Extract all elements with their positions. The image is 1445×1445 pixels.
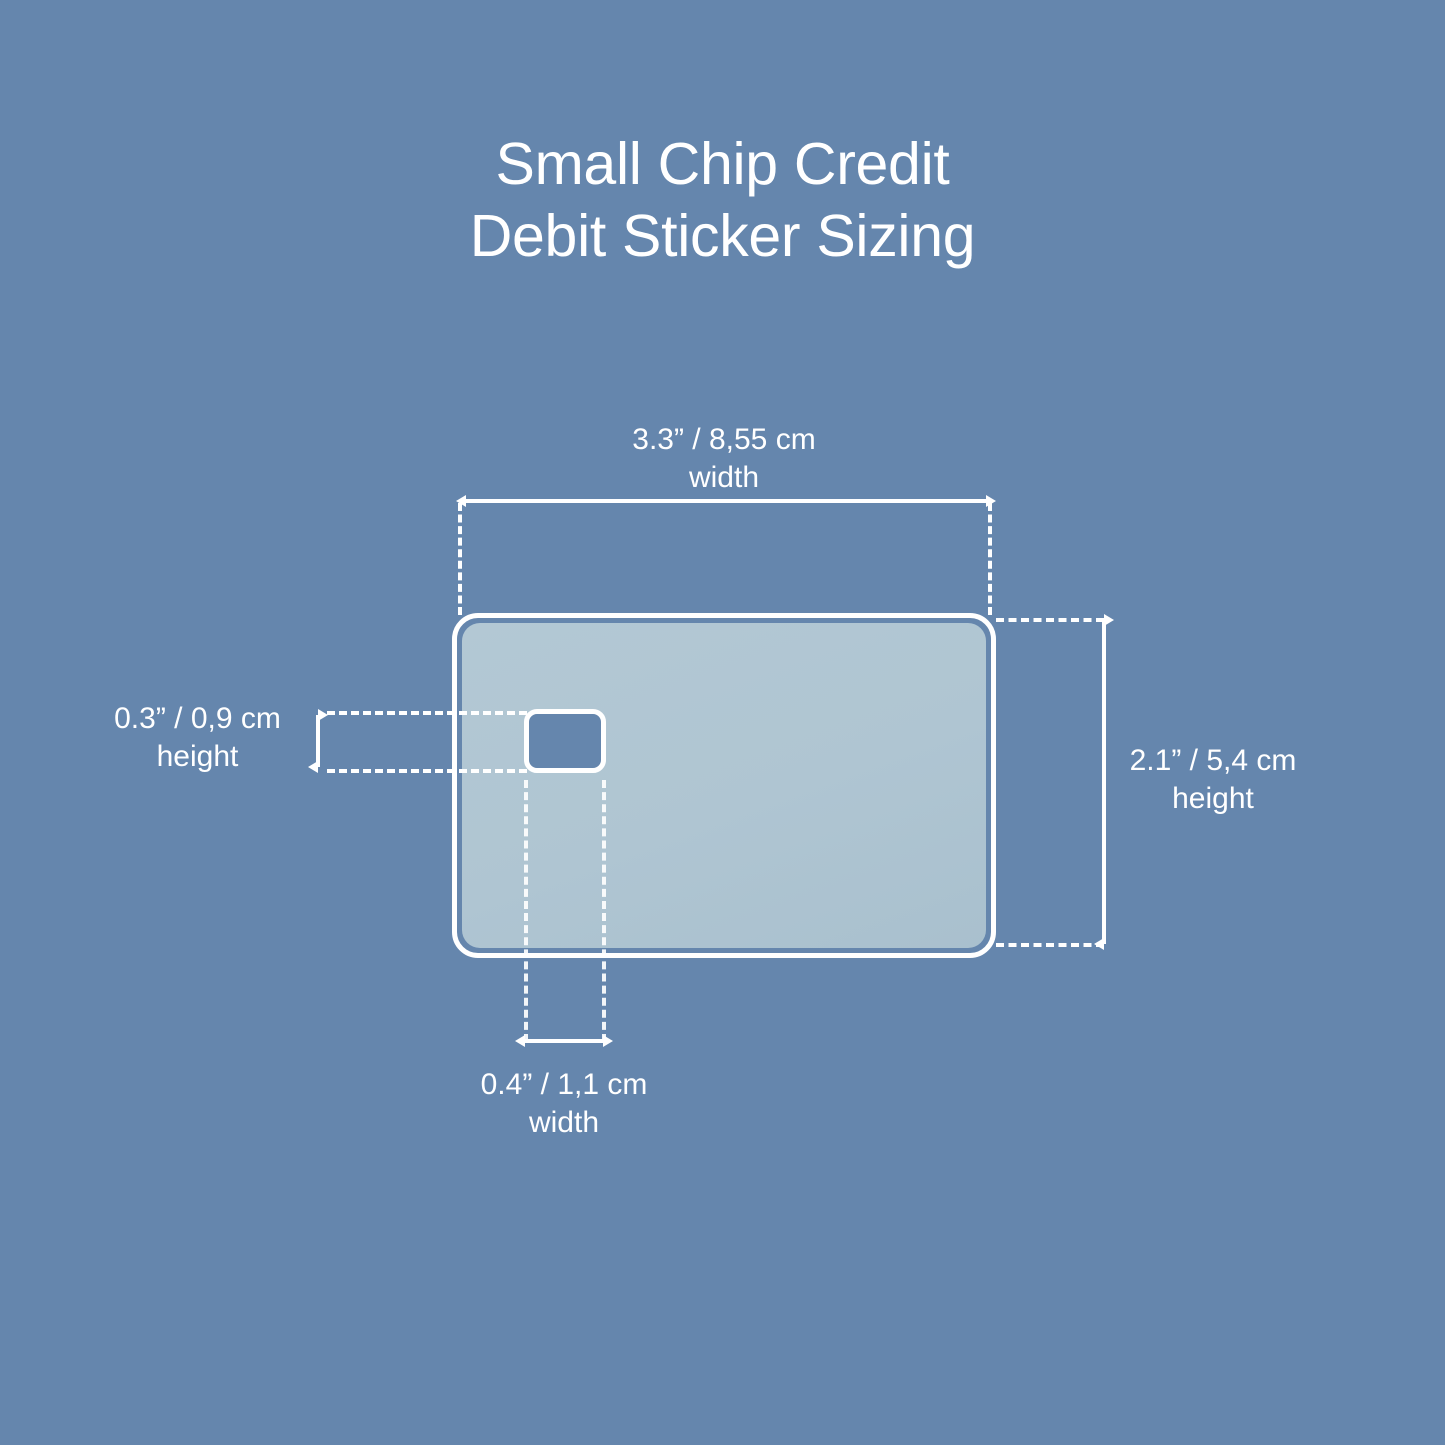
chip-width-arrow [511, 1027, 617, 1057]
chip-width-label: 0.4” / 1,1 cm width [414, 1066, 714, 1142]
card-width-extension-left [458, 503, 462, 615]
card-height-label: 2.1” / 5,4 cm height [1118, 742, 1308, 818]
card-width-arrow [452, 487, 1000, 517]
chip-height-leader-top [327, 711, 527, 715]
card-width-label: 3.3” / 8,55 cm width [474, 421, 974, 497]
card-width-extension-right [988, 503, 992, 615]
chip-width-guide-left [524, 780, 528, 1042]
chip-width-guide-right [602, 780, 606, 1042]
page-title: Small Chip Credit Debit Sticker Sizing [0, 128, 1445, 272]
sizing-diagram: Small Chip Credit Debit Sticker Sizing 3… [0, 0, 1445, 1445]
chip-outline [524, 709, 606, 773]
chip-height-leader-bottom [327, 769, 527, 773]
card-height-leader-top [996, 618, 1104, 622]
card-height-arrow [1089, 606, 1119, 958]
chip-height-label: 0.3” / 0,9 cm height [100, 700, 295, 776]
card-height-leader-bottom [996, 943, 1104, 947]
card-face [462, 623, 986, 948]
